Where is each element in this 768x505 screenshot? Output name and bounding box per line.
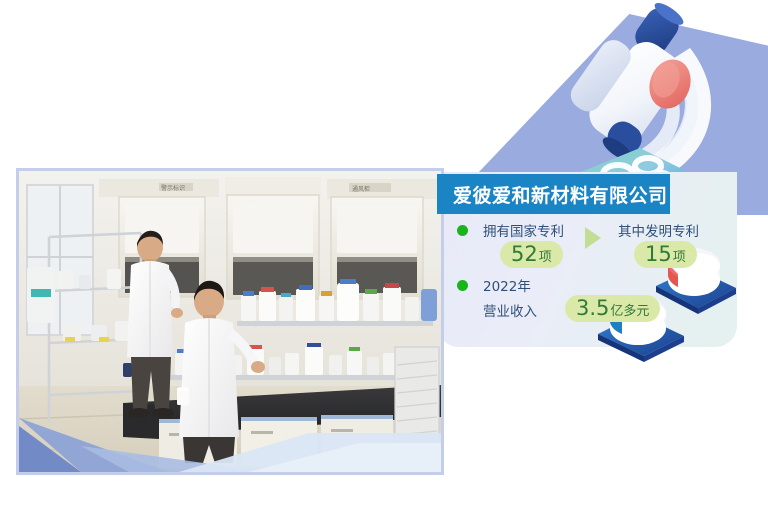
stat-pill-invention-patents: 15 项	[634, 241, 697, 268]
stat-label-revenue: 营业收入	[483, 300, 537, 320]
bullet-dot-icon	[457, 225, 468, 236]
stat-unit-invention-patents: 项	[673, 246, 686, 265]
stat-pill-national-patents: 52 项	[500, 241, 563, 268]
stat-label-invention-patents: 其中发明专利	[618, 220, 699, 240]
laboratory-photo: 警示标识 通风柜	[16, 168, 444, 475]
company-title-banner: 爱彼爱和新材料有限公司	[437, 174, 670, 214]
stat-label-national-patents: 拥有国家专利	[483, 220, 564, 240]
svg-text:警示标识: 警示标识	[161, 184, 185, 192]
laboratory-photo-image: 警示标识 通风柜	[19, 171, 441, 472]
stat-value-invention-patents: 15	[645, 242, 672, 266]
stat-unit-revenue: 亿多元	[610, 300, 649, 319]
stats-group: 拥有国家专利 52 项 其中发明专利 15 项 2022年 营业收入	[437, 220, 737, 230]
company-name: 爱彼爱和新材料有限公司	[437, 181, 668, 208]
stat-label-year: 2022年	[483, 275, 531, 295]
stat-unit-national-patents: 项	[539, 246, 552, 265]
stat-value-revenue: 3.5	[576, 296, 609, 320]
stat-pill-revenue: 3.5 亿多元	[565, 295, 660, 322]
svg-text:通风柜: 通风柜	[352, 185, 370, 193]
infographic-canvas: 拥有国家专利 52 项 其中发明专利 15 项 2022年 营业收入	[0, 0, 768, 505]
stat-value-national-patents: 52	[511, 242, 538, 266]
right-triangle-arrow-icon	[585, 227, 601, 249]
bullet-dot-icon	[457, 280, 468, 291]
